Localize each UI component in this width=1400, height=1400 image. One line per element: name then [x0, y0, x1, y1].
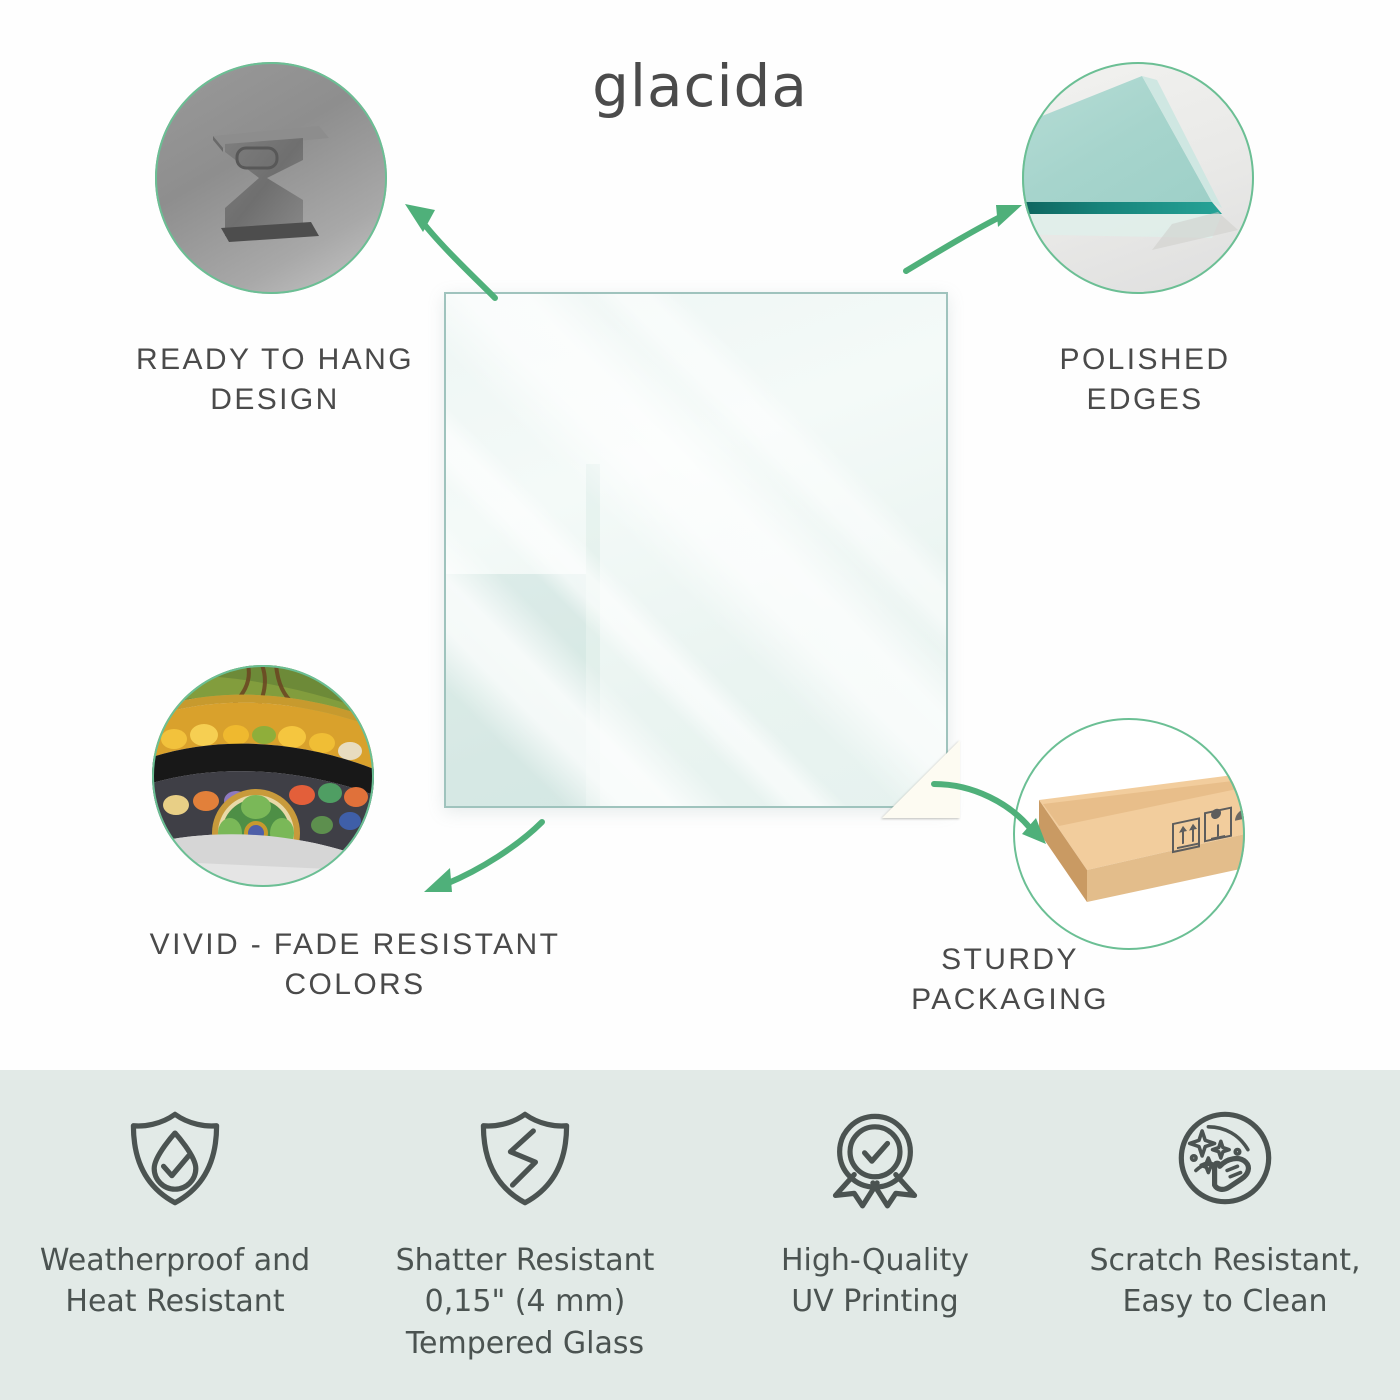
benefit-item-weatherproof: Weatherproof and Heat Resistant: [0, 1070, 350, 1323]
feature-image-polished-edges: [1022, 62, 1254, 294]
benefit-item-uv-printing: High-Quality UV Printing: [700, 1070, 1050, 1323]
stained-glass-artwork-photo: [152, 665, 374, 887]
shield-crack-icon: [465, 1098, 585, 1218]
feature-label-sturdy-packaging: STURDY PACKAGING: [800, 940, 1220, 1020]
benefit-text-uv-printing: High-Quality UV Printing: [775, 1240, 975, 1323]
arrow-to-vivid-colors: [408, 812, 568, 922]
feature-label-vivid-colors: VIVID - FADE RESISTANT COLORS: [35, 925, 675, 1005]
arrow-to-ready-to-hang: [395, 180, 575, 310]
feature-label-polished-edges: POLISHED EDGES: [955, 340, 1335, 420]
shield-droplet-check-icon: [115, 1098, 235, 1218]
award-badge-check-icon: [815, 1098, 935, 1218]
benefit-text-weatherproof: Weatherproof and Heat Resistant: [34, 1240, 316, 1323]
feature-image-ready-to-hang: [155, 62, 387, 294]
benefits-bar: Weatherproof and Heat Resistant Shatter …: [0, 1070, 1400, 1400]
sparkle-wipe-hand-icon: [1165, 1098, 1285, 1218]
benefit-text-shatter-resistant: Shatter Resistant 0,15" (4 mm) Tempered …: [390, 1240, 661, 1364]
feature-label-ready-to-hang: READY TO HANG DESIGN: [60, 340, 490, 420]
hanging-bracket-photo: [207, 108, 335, 248]
benefit-text-scratch-resistant: Scratch Resistant, Easy to Clean: [1083, 1240, 1366, 1323]
tempered-glass-panel: [444, 292, 948, 808]
polished-glass-edge-photo: [1022, 62, 1254, 294]
arrow-to-polished-edges: [900, 185, 1030, 295]
benefit-item-shatter-resistant: Shatter Resistant 0,15" (4 mm) Tempered …: [350, 1070, 700, 1364]
arrow-to-sturdy-packaging: [930, 770, 1060, 880]
benefit-item-scratch-resistant: Scratch Resistant, Easy to Clean: [1050, 1070, 1400, 1323]
product-infographic: glacida READY TO HANG DESIGN: [0, 0, 1400, 1400]
feature-image-vivid-colors: [152, 665, 374, 887]
